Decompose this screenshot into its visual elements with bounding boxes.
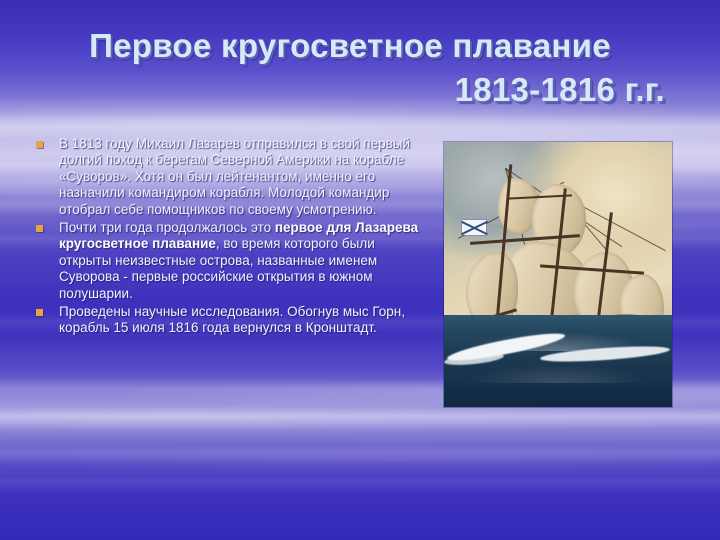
sailing-ship-painting	[444, 142, 672, 407]
square-bullet-icon	[36, 141, 43, 148]
bullet-text-2: Почти три года продолжалось это первое д…	[59, 220, 420, 302]
bullet-text-3: Проведены научные исследования. Обогнув …	[59, 304, 420, 337]
title-line-1: Первое кругосветное плавание	[0, 24, 700, 68]
square-bullet-icon	[36, 309, 43, 316]
bullet-text-1: В 1813 году Михаил Лазарев отправился в …	[59, 136, 420, 218]
bullet-item: Почти три года продолжалось это первое д…	[28, 220, 420, 302]
st-andrews-flag-icon	[462, 220, 486, 235]
slide-body: В 1813 году Михаил Лазарев отправился в …	[28, 136, 420, 339]
presentation-slide: Первое кругосветное плавание 1813-1816 г…	[0, 0, 720, 540]
bullet-item: Проведены научные исследования. Обогнув …	[28, 304, 420, 337]
slide-title: Первое кругосветное плавание 1813-1816 г…	[0, 24, 700, 112]
square-bullet-icon	[36, 225, 43, 232]
bullet-item: В 1813 году Михаил Лазарев отправился в …	[28, 136, 420, 218]
title-line-2: 1813-1816 г.г.	[0, 68, 700, 112]
